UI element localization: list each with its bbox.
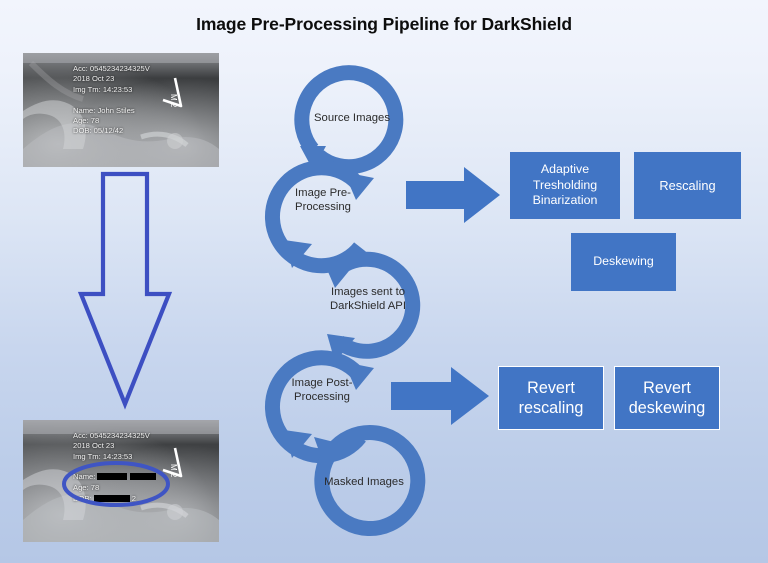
op-box-revert-deskewing[interactable]: Revert deskewing <box>614 366 720 430</box>
op-box-rescaling[interactable]: Rescaling <box>634 152 741 219</box>
page-title: Image Pre-Processing Pipeline for DarkSh… <box>0 14 768 35</box>
post-processing-block-arrow <box>391 365 491 427</box>
masked-xray-text: Acc: 0545234234325V 2018 Oct 23 Img Tm: … <box>73 431 150 462</box>
svg-text:M 2: M 2 <box>169 94 178 108</box>
masked-xray-image: Acc: 0545234234325V 2018 Oct 23 Img Tm: … <box>23 420 219 542</box>
flow-label-image-post-processing: Image Post- Processing <box>262 376 382 404</box>
flow-label-masked-images: Masked Images <box>303 475 425 489</box>
flow-label-image-pre-processing: Image Pre- Processing <box>263 186 383 214</box>
flow-ring-masked-images <box>298 425 428 553</box>
diagram-canvas: Image Pre-Processing Pipeline for DarkSh… <box>0 0 768 563</box>
flow-label-images-sent-to-api: Images sent to DarkShield API <box>303 285 433 313</box>
source-xray-image: Acc: 0545234234325V 2018 Oct 23 Img Tm: … <box>23 53 219 167</box>
flow-label-source-images: Source Images <box>292 111 412 125</box>
pre-processing-block-arrow <box>406 165 502 225</box>
transform-down-arrow <box>73 168 178 412</box>
op-box-deskewing[interactable]: Deskewing <box>571 233 676 291</box>
redaction-highlight-ellipse <box>61 460 171 508</box>
source-xray-text: Acc: 0545234234325V 2018 Oct 23 Img Tm: … <box>73 64 150 137</box>
xray-orientation-marker: M 2 <box>149 76 185 110</box>
op-box-adaptive-thresholding-binarization[interactable]: Adaptive Tresholding Binarization <box>510 152 620 219</box>
op-box-revert-rescaling[interactable]: Revert rescaling <box>498 366 604 430</box>
